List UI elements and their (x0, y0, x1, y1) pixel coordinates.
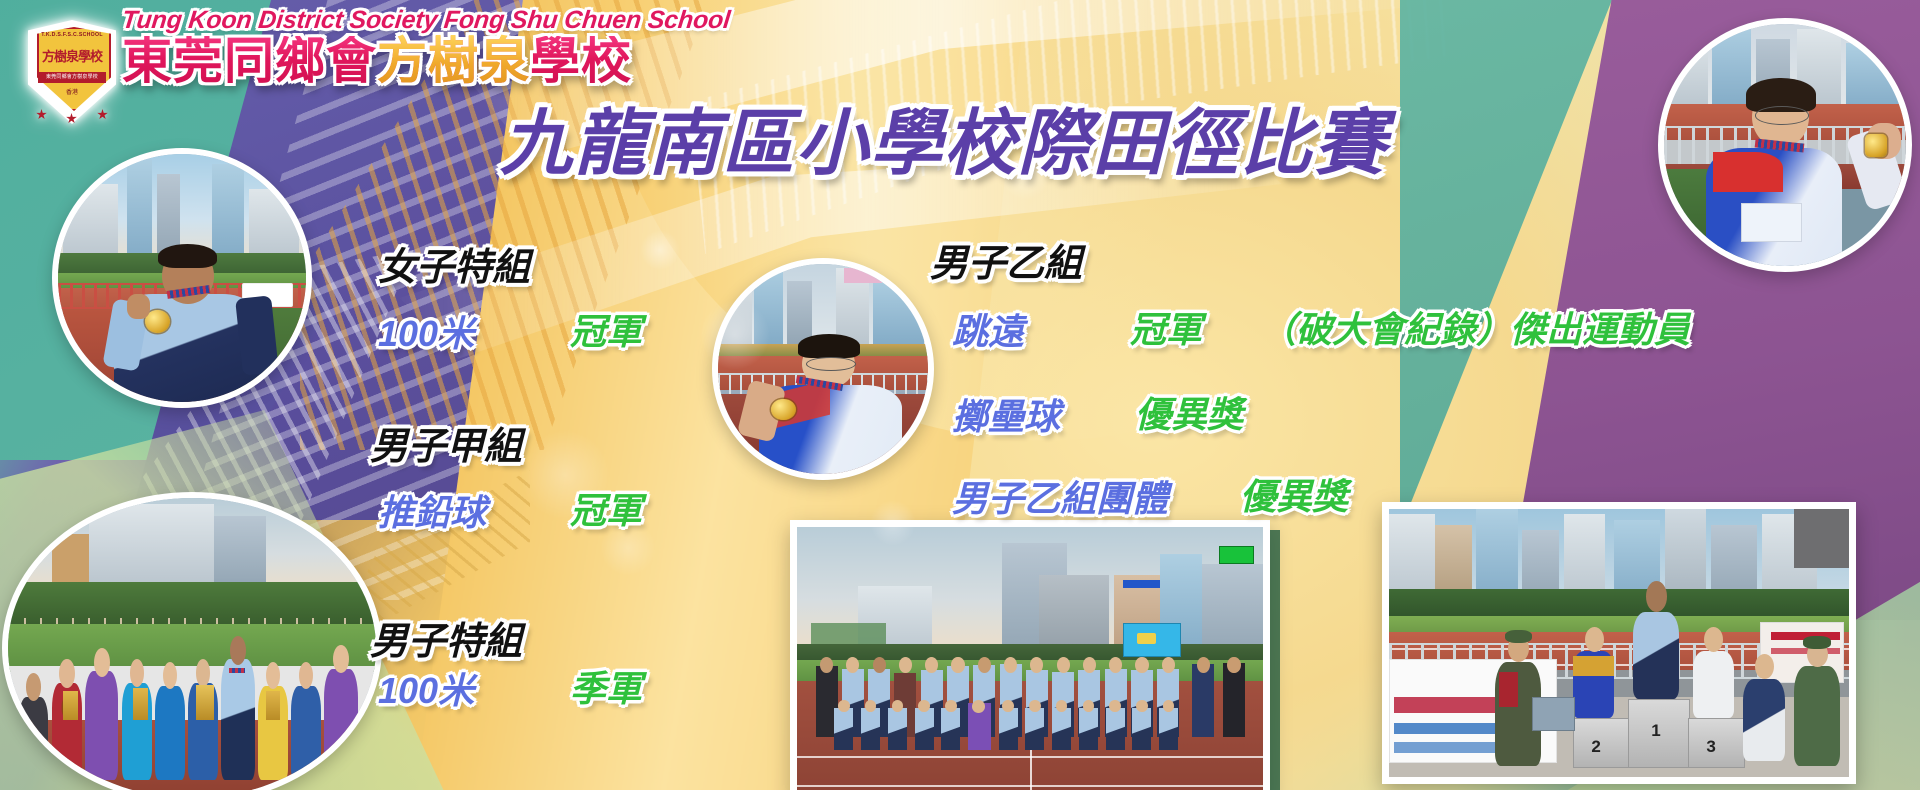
award-boys-b-outstanding-athlete: 傑出運動員 (1510, 301, 1690, 353)
photo-girl-medal-right (1658, 18, 1912, 272)
school-name-chinese: 東莞同鄉會方樹泉學校 (122, 36, 730, 87)
photo-boy-medal-left (52, 148, 312, 408)
event-label-boys-b-softball-throw: 擲壘球 (952, 388, 1060, 440)
group-label-boys-a: 男子甲組 (370, 415, 522, 470)
note-boys-b-longjump-record: （破大會紀錄） (1260, 301, 1512, 353)
school-crest-icon: T.K.D.S.F.S.C.SCHOOL 方樹泉學校 東莞同鄉會方樹泉學校 香港 (28, 20, 116, 124)
poster-root: T.K.D.S.F.S.C.SCHOOL 方樹泉學校 東莞同鄉會方樹泉學校 香港… (0, 0, 1920, 790)
photo-podium: 2 1 3 (1382, 502, 1856, 784)
school-name-cn-part2: 方樹泉 (377, 33, 530, 89)
award-label-boys-b-longjump: 冠軍 (1130, 301, 1202, 353)
crest-top-text: T.K.D.S.F.S.C.SCHOOL (28, 32, 116, 38)
event-label-boys-b-team: 男子乙組團體 (952, 470, 1168, 522)
award-label-boys-special-100m: 季軍 (570, 660, 642, 712)
school-name-english: Tung Koon District Society Fong Shu Chue… (121, 8, 732, 33)
award-label-boys-a-shotput: 冠軍 (570, 482, 642, 534)
award-label-girls-special-100m: 冠軍 (570, 303, 642, 355)
award-label-boys-b-softball-throw: 優異獎 (1135, 386, 1243, 438)
photo-team-trophies (2, 492, 382, 790)
photo-team-group (790, 520, 1270, 790)
crest-sub-text: 香港 (28, 87, 116, 96)
group-label-girls-special: 女子特組 (378, 236, 530, 291)
crest-band-text: 東莞同鄉會方樹泉學校 (38, 72, 106, 83)
event-label-girls-special-100m: 100米 (378, 305, 474, 357)
event-label-boys-a-shotput: 推鉛球 (378, 484, 486, 536)
group-label-boys-b: 男子乙組 (930, 232, 1082, 287)
school-name-cn-part3: 學校 (530, 33, 632, 89)
event-label-boys-b-longjump: 跳遠 (952, 303, 1024, 355)
podium-number-2: 2 (1591, 737, 1600, 757)
podium-number-3: 3 (1706, 737, 1715, 757)
crest-center-text: 方樹泉學校 (28, 46, 116, 65)
event-label-boys-special-100m: 100米 (378, 662, 474, 714)
school-header: T.K.D.S.F.S.C.SCHOOL 方樹泉學校 東莞同鄉會方樹泉學校 香港… (28, 8, 730, 124)
group-label-boys-special: 男子特組 (370, 610, 522, 665)
award-label-boys-b-team: 優異獎 (1240, 468, 1348, 520)
school-name-cn-part1: 東莞同鄉會 (122, 33, 377, 89)
podium-number-1: 1 (1651, 721, 1660, 741)
photo-boy-medal-center (712, 258, 934, 480)
